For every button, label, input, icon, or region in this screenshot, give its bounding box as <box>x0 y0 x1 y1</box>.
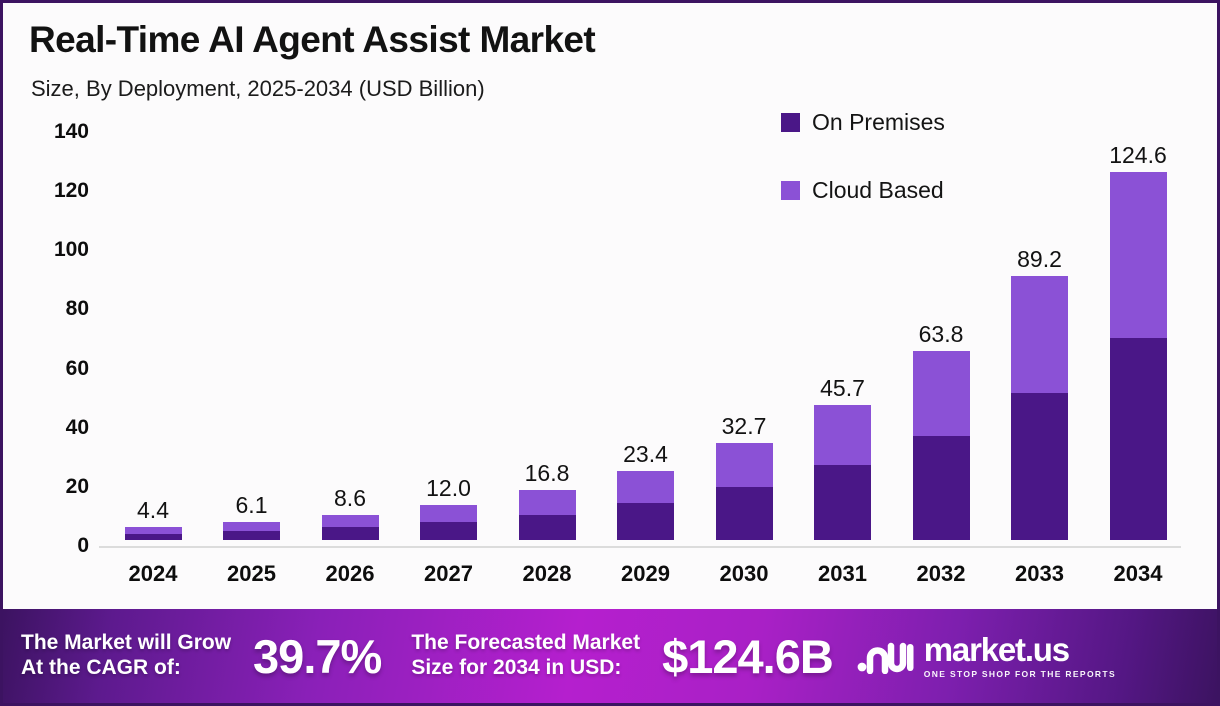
cagr-caption: The Market will Grow At the CAGR of: <box>21 631 231 681</box>
bar-column-2028[interactable] <box>519 490 576 540</box>
x-axis-tick-label: 2033 <box>1011 561 1068 587</box>
bar-segment-cloud-based[interactable] <box>913 351 970 436</box>
chart-plot-area: 020406080100120140 4.420246.120258.62026… <box>3 3 1217 703</box>
bar-value-label: 32.7 <box>722 413 767 440</box>
bar-segment-cloud-based[interactable] <box>420 505 477 522</box>
bar-column-2025[interactable] <box>223 522 280 540</box>
logo-tagline: ONE STOP SHOP FOR THE REPORTS <box>924 669 1116 679</box>
bar-column-2027[interactable] <box>420 505 477 540</box>
y-axis-tick-label: 100 <box>27 238 89 262</box>
bar-value-label: 23.4 <box>623 441 668 468</box>
bar-column-2029[interactable] <box>617 471 674 540</box>
x-axis-tick-label: 2027 <box>420 561 477 587</box>
forecast-size-caption-line1: The Forecasted Market <box>411 631 640 656</box>
bar-segment-on-premises[interactable] <box>716 487 773 540</box>
bar-segment-on-premises[interactable] <box>913 436 970 540</box>
bar-segment-on-premises[interactable] <box>420 522 477 540</box>
cagr-caption-line1: The Market will Grow <box>21 631 231 656</box>
y-axis-tick-label: 80 <box>27 297 89 321</box>
bar-value-label: 89.2 <box>1017 246 1062 273</box>
bar-value-label: 45.7 <box>820 375 865 402</box>
logo-wordmark: market.us ONE STOP SHOP FOR THE REPORTS <box>924 633 1116 679</box>
forecast-size-caption: The Forecasted Market Size for 2034 in U… <box>411 631 640 681</box>
market-us-logo-icon <box>857 634 915 679</box>
bar-value-label: 4.4 <box>137 497 169 524</box>
y-axis: 020406080100120140 <box>27 3 89 706</box>
bar-column-2032[interactable] <box>913 351 970 540</box>
bar-value-label: 16.8 <box>525 460 570 487</box>
bar-segment-cloud-based[interactable] <box>814 405 871 465</box>
forecast-size-caption-line2: Size for 2034 in USD: <box>411 656 640 681</box>
y-axis-tick-label: 40 <box>27 416 89 440</box>
bar-segment-on-premises[interactable] <box>617 503 674 540</box>
x-axis-tick-label: 2025 <box>223 561 280 587</box>
market-us-logo[interactable]: market.us ONE STOP SHOP FOR THE REPORTS <box>857 633 1116 679</box>
y-axis-tick-label: 20 <box>27 475 89 499</box>
bar-segment-cloud-based[interactable] <box>716 443 773 487</box>
x-axis-tick-label: 2029 <box>617 561 674 587</box>
cagr-caption-line2: At the CAGR of: <box>21 656 231 681</box>
forecast-size-value: $124.6B <box>662 629 833 684</box>
bar-column-2024[interactable] <box>125 527 182 540</box>
bar-column-2033[interactable] <box>1011 276 1068 540</box>
logo-name: market.us <box>924 633 1116 666</box>
bar-value-label: 63.8 <box>919 321 964 348</box>
x-axis-tick-label: 2026 <box>322 561 379 587</box>
bar-column-2031[interactable] <box>814 405 871 540</box>
x-axis-tick-label: 2031 <box>814 561 871 587</box>
bar-segment-on-premises[interactable] <box>223 531 280 540</box>
bar-segment-cloud-based[interactable] <box>1110 172 1167 338</box>
bar-column-2030[interactable] <box>716 443 773 540</box>
y-axis-tick-label: 60 <box>27 357 89 381</box>
x-axis-tick-label: 2034 <box>1110 561 1167 587</box>
bar-segment-on-premises[interactable] <box>125 534 182 541</box>
chart-infographic: Real-Time AI Agent Assist Market Size, B… <box>0 0 1220 706</box>
bar-segment-cloud-based[interactable] <box>322 515 379 527</box>
bar-segment-on-premises[interactable] <box>814 465 871 540</box>
x-axis-tick-label: 2030 <box>716 561 773 587</box>
bar-column-2026[interactable] <box>322 515 379 540</box>
bar-segment-cloud-based[interactable] <box>617 471 674 503</box>
y-axis-tick-label: 140 <box>27 120 89 144</box>
x-axis-baseline <box>99 546 1181 548</box>
bar-segment-cloud-based[interactable] <box>1011 276 1068 393</box>
bar-value-label: 8.6 <box>334 485 366 512</box>
bar-column-2034[interactable] <box>1110 172 1167 540</box>
bar-segment-on-premises[interactable] <box>1110 338 1167 540</box>
x-axis-tick-label: 2024 <box>125 561 182 587</box>
x-axis-tick-label: 2028 <box>519 561 576 587</box>
y-axis-tick-label: 120 <box>27 179 89 203</box>
bar-value-label: 12.0 <box>426 475 471 502</box>
bar-segment-on-premises[interactable] <box>322 527 379 540</box>
bar-value-label: 6.1 <box>236 492 268 519</box>
x-axis-tick-label: 2032 <box>913 561 970 587</box>
y-axis-tick-label: 0 <box>27 534 89 558</box>
cagr-value: 39.7% <box>253 629 381 684</box>
summary-banner: The Market will Grow At the CAGR of: 39.… <box>3 609 1217 703</box>
bar-segment-cloud-based[interactable] <box>223 522 280 531</box>
bar-segment-on-premises[interactable] <box>519 515 576 540</box>
bar-segment-cloud-based[interactable] <box>519 490 576 514</box>
bar-segment-on-premises[interactable] <box>1011 393 1068 540</box>
bar-value-label: 124.6 <box>1109 142 1167 169</box>
